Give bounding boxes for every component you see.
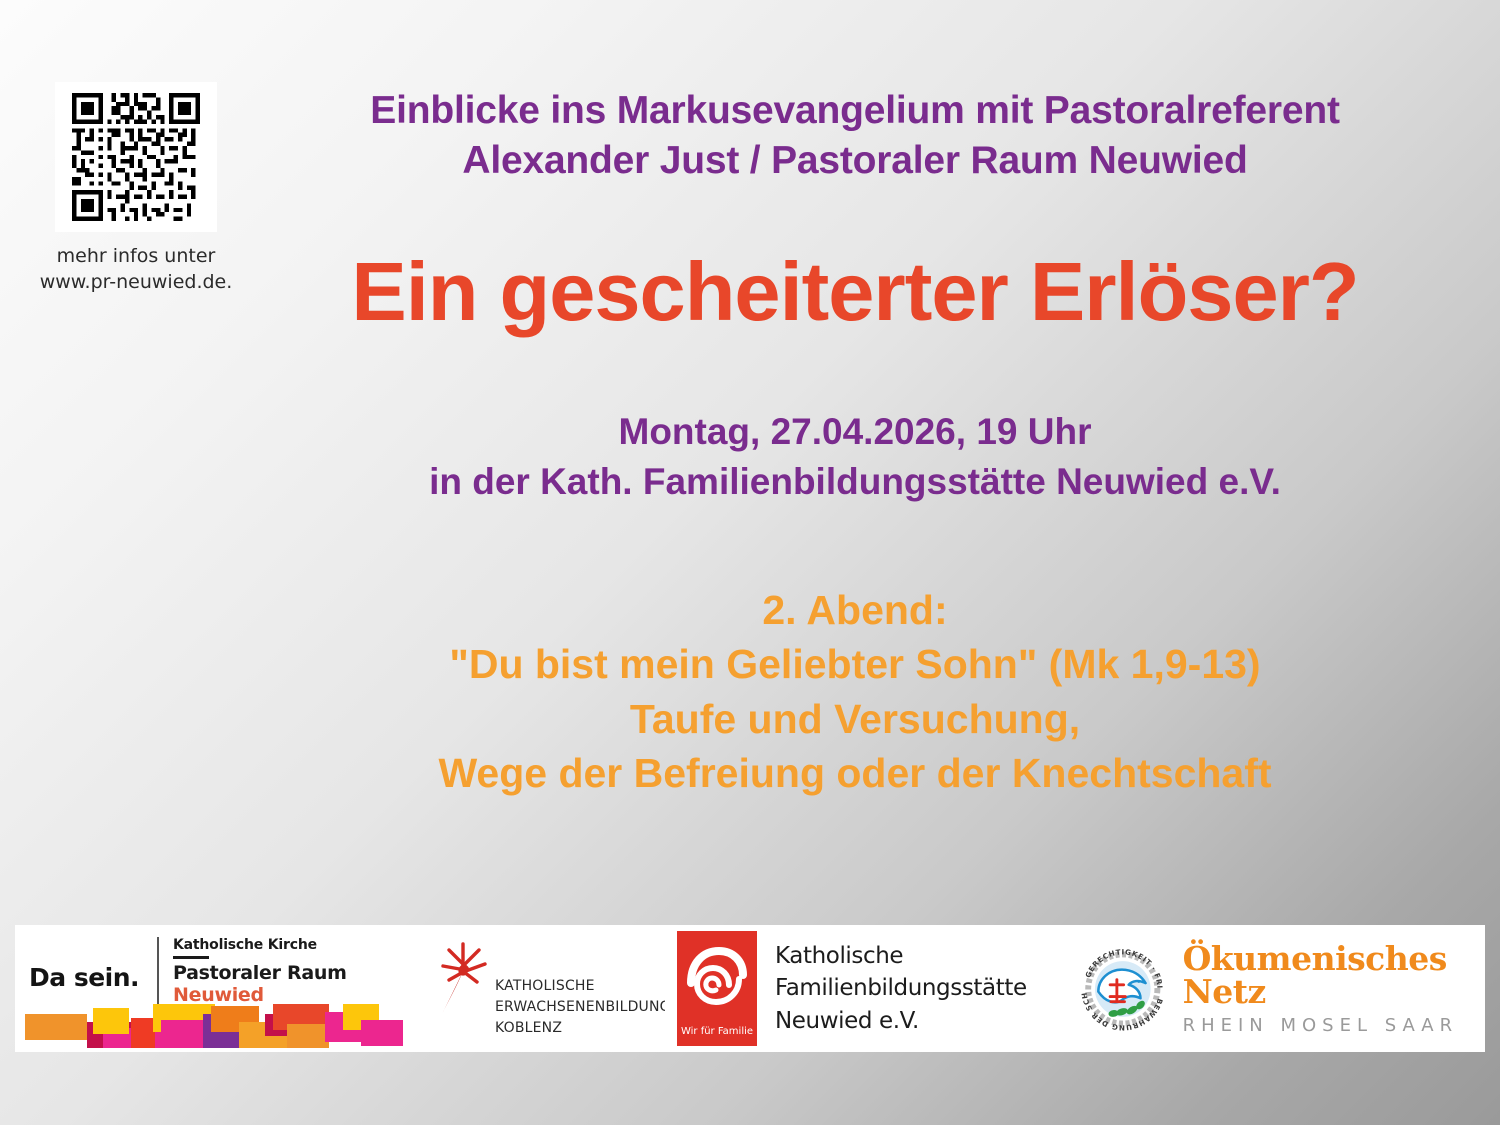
- keb-line-3: KOBLENZ: [495, 1018, 671, 1039]
- page-title: Ein gescheiterter Erlöser?: [250, 248, 1460, 335]
- logo-claim-da-sein: Da sein.: [29, 937, 157, 992]
- logo-line-pastoraler-raum: Pastoraler Raum: [173, 962, 347, 984]
- logo-familienbildungsstaette: Wir für Familie Katholische Familienbild…: [665, 925, 1065, 1052]
- netz-subtitle: RHEIN MOSEL SAAR: [1183, 1015, 1485, 1036]
- logo-oekumenisches-netz: GERECHTIGKEIT · FRIEDEN · BEWAHRUNG DER …: [1065, 925, 1485, 1052]
- event-details: Montag, 27.04.2026, 19 Uhr in der Kath. …: [250, 407, 1460, 507]
- poster-content: Einblicke ins Markusevangelium mit Pasto…: [250, 0, 1460, 801]
- keb-line-2: ERWACHSENENBILDUNG: [495, 997, 671, 1018]
- qr-caption-line2: www.pr-neuwied.de.: [36, 270, 236, 296]
- qr-block: mehr infos unter www.pr-neuwied.de.: [36, 82, 236, 295]
- qr-caption-line1: mehr infos unter: [36, 244, 236, 270]
- event-date: Montag, 27.04.2026, 19 Uhr: [250, 407, 1460, 457]
- spiral-icon: [677, 937, 757, 1017]
- fbs-line-3: Neuwied e.V.: [775, 1005, 1027, 1038]
- logo-line-katholische-kirche: Katholische Kirche: [173, 937, 347, 953]
- fbs-line-1: Katholische: [775, 940, 1027, 973]
- qr-caption: mehr infos unter www.pr-neuwied.de.: [36, 244, 236, 295]
- topic-subtitle-1: Taufe und Versuchung,: [250, 692, 1460, 747]
- keb-line-1: KATHOLISCHE: [495, 976, 671, 997]
- event-poster: mehr infos unter www.pr-neuwied.de. Einb…: [0, 0, 1500, 1125]
- logo-pastoraler-raum-neuwied: Da sein. Katholische Kirche Pastoraler R…: [15, 925, 403, 1052]
- topic-title: "Du bist mein Geliebter Sohn" (Mk 1,9-13…: [250, 637, 1460, 692]
- fbs-line-2: Familienbildungsstätte: [775, 972, 1027, 1005]
- series-line-1: Einblicke ins Markusevangelium mit Pasto…: [250, 86, 1460, 136]
- fbs-mark-label: Wir für Familie: [677, 1026, 757, 1037]
- qr-code-card[interactable]: [55, 82, 217, 232]
- starburst-icon: [433, 938, 491, 1030]
- netz-title: Ökumenisches Netz: [1183, 942, 1485, 1008]
- topic-subtitle-2: Wege der Befreiung oder der Knechtschaft: [250, 746, 1460, 801]
- series-line-2: Alexander Just / Pastoraler Raum Neuwied: [250, 136, 1460, 186]
- dove-emblem-icon: GERECHTIGKEIT · FRIEDEN · BEWAHRUNG DER …: [1073, 930, 1173, 1048]
- fbs-mark: Wir für Familie: [677, 931, 757, 1046]
- sponsor-logo-strip: Da sein. Katholische Kirche Pastoraler R…: [15, 925, 1485, 1052]
- logo-rule: [173, 956, 209, 959]
- qr-code-icon: [72, 93, 200, 221]
- logo-divider: [157, 937, 159, 1009]
- logo-keb-koblenz: KATHOLISCHE ERWACHSENENBILDUNG KOBLENZ: [403, 925, 665, 1052]
- logo-color-swatches: [25, 1000, 405, 1046]
- series-heading: Einblicke ins Markusevangelium mit Pasto…: [250, 86, 1460, 186]
- event-venue: in der Kath. Familienbildungsstätte Neuw…: [250, 457, 1460, 507]
- topic-session: 2. Abend:: [250, 583, 1460, 638]
- topic-block: 2. Abend: "Du bist mein Geliebter Sohn" …: [250, 583, 1460, 801]
